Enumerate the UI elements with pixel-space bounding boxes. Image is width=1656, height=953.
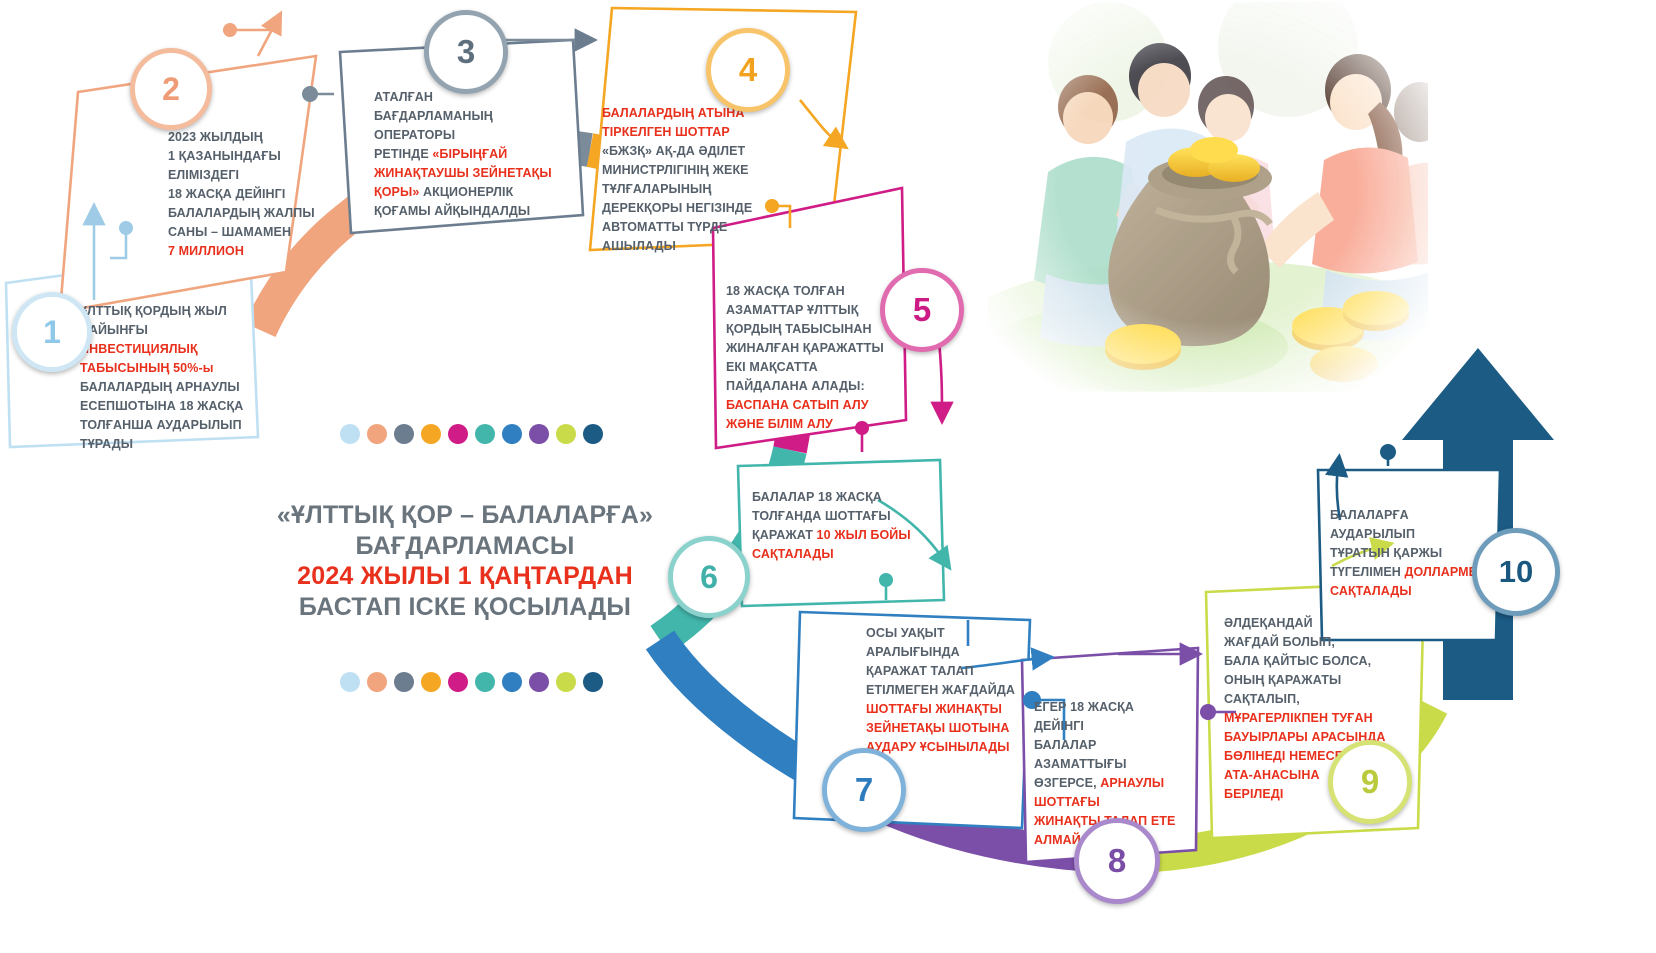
palette-dot-10	[583, 672, 603, 692]
step-badge-6[interactable]: 6	[668, 536, 750, 618]
infographic-canvas: ҰЛТТЫҚ ҚОРДЫҢ ЖЫЛ САЙЫНҒЫ ИНВЕСТИЦИЯЛЫҚ …	[0, 0, 1656, 953]
step-2-text: 2023 ЖЫЛДЫҢ 1 ҚАЗАНЫНДАҒЫ ЕЛІМІЗДЕГІ 18 …	[168, 128, 354, 261]
palette-dot-9	[556, 424, 576, 444]
palette-dot-2	[367, 424, 387, 444]
palette-dot-6	[475, 672, 495, 692]
step-badge-4[interactable]: 4	[706, 28, 790, 112]
step-6-text: БАЛАЛАР 18 ЖАСҚА ТОЛҒАНДА ШОТТАҒЫ ҚАРАЖА…	[752, 488, 920, 564]
palette-dot-10	[583, 424, 603, 444]
palette-dot-4	[421, 424, 441, 444]
dot-strip-bottom	[340, 672, 603, 692]
palette-dot-3	[394, 424, 414, 444]
step-7-text: ОСЫ УАҚЫТ АРАЛЫҒЫНДА ҚАРАЖАТ ТАЛАП ЕТІЛМ…	[866, 624, 1016, 757]
step-badge-3[interactable]: 3	[424, 10, 508, 94]
step-badge-2[interactable]: 2	[130, 48, 212, 130]
step-1-text: ҰЛТТЫҚ ҚОРДЫҢ ЖЫЛ САЙЫНҒЫ ИНВЕСТИЦИЯЛЫҚ …	[80, 302, 255, 454]
step-badge-9[interactable]: 9	[1328, 740, 1412, 824]
step-badge-1[interactable]: 1	[12, 292, 92, 372]
step-badge-8[interactable]: 8	[1074, 818, 1160, 904]
photo-vector	[988, 2, 1428, 392]
palette-dot-3	[394, 672, 414, 692]
dot-strip-top	[340, 424, 603, 444]
palette-dot-8	[529, 424, 549, 444]
title-line-4: БАСТАП ІСКЕ ҚОСЫЛАДЫ	[260, 592, 670, 623]
step-badge-7[interactable]: 7	[822, 748, 906, 832]
step-5-text: 18 ЖАСҚА ТОЛҒАН АЗАМАТТАР ҰЛТТЫҚ ҚОРДЫҢ …	[726, 282, 901, 434]
palette-dot-6	[475, 424, 495, 444]
palette-dot-1	[340, 672, 360, 692]
step-3-text: АТАЛҒАН БАҒДАРЛАМАНЫҢ ОПЕРАТОРЫ РЕТІНДЕ …	[374, 88, 574, 221]
palette-dot-5	[448, 424, 468, 444]
children-with-money-bag-photo	[988, 2, 1428, 392]
step-10-text: БАЛАЛАРҒА АУДАРЫЛЫП ТҰРАТЫН ҚАРЖЫ ТҮГЕЛІ…	[1330, 506, 1490, 601]
program-title: «ҰЛТТЫҚ ҚОР – БАЛАЛАРҒА» БАҒДАРЛАМАСЫ 20…	[260, 500, 670, 622]
palette-dot-8	[529, 672, 549, 692]
step-badge-10[interactable]: 10	[1472, 528, 1560, 616]
step-4-text: БАЛАЛАРДЫҢ АТЫНА ТІРКЕЛГЕН ШОТТАР «БЖЗҚ»…	[602, 104, 792, 256]
palette-dot-7	[502, 424, 522, 444]
palette-dot-5	[448, 672, 468, 692]
palette-dot-7	[502, 672, 522, 692]
palette-dot-1	[340, 424, 360, 444]
title-line-1: «ҰЛТТЫҚ ҚОР – БАЛАЛАРҒА»	[260, 500, 670, 531]
palette-dot-4	[421, 672, 441, 692]
title-line-3: 2024 ЖЫЛЫ 1 ҚАҢТАРДАН	[260, 561, 670, 592]
palette-dot-9	[556, 672, 576, 692]
palette-dot-2	[367, 672, 387, 692]
step-badge-5[interactable]: 5	[880, 268, 964, 352]
title-line-2: БАҒДАРЛАМАСЫ	[260, 531, 670, 562]
